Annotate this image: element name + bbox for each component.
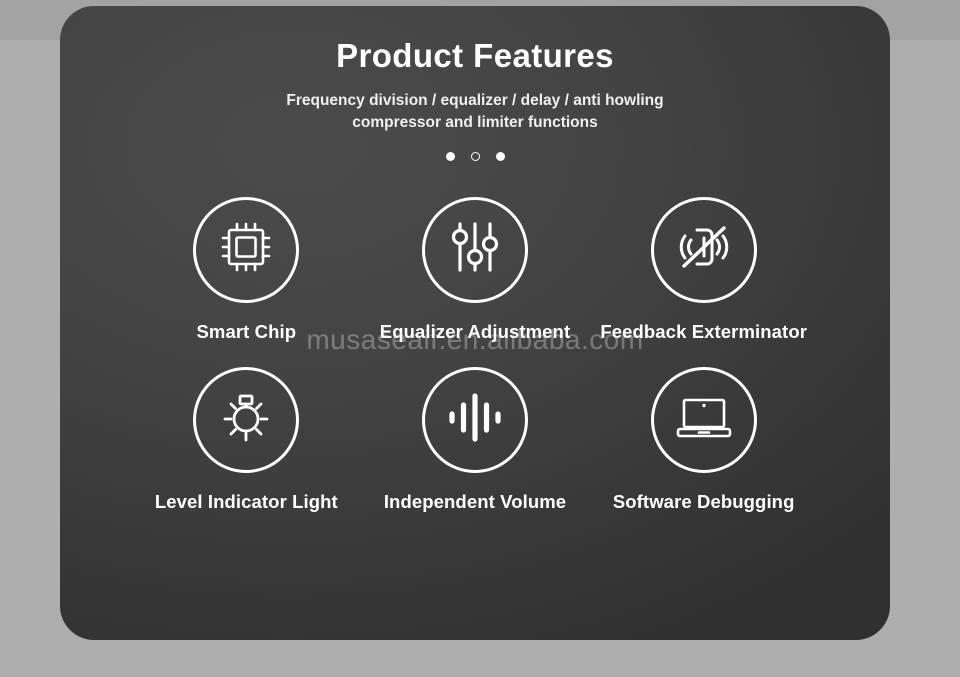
feature-label: Level Indicator Light [155,491,338,513]
laptop-icon [672,385,736,454]
light-bulb-icon [215,386,277,453]
waveform-icon [446,388,504,451]
feature-item-level-indicator-light[interactable]: Level Indicator Light [132,367,361,513]
feature-icon-ring [651,367,757,473]
feature-label: Feedback Exterminator [600,321,807,343]
feature-icon-ring [651,197,757,303]
feature-item-equalizer-adjustment[interactable]: Equalizer Adjustment [361,197,590,343]
page-root: Product Features Frequency division / eq… [0,0,960,677]
feature-item-software-debugging[interactable]: Software Debugging [589,367,818,513]
feature-icon-ring [193,197,299,303]
feature-item-feedback-exterminator[interactable]: Feedback Exterminator [589,197,818,343]
page-subtitle: Frequency division / equalizer / delay /… [255,90,695,135]
feature-item-smart-chip[interactable]: Smart Chip [132,197,361,343]
carousel-dot-1[interactable] [446,152,455,161]
feature-label: Independent Volume [384,491,566,513]
page-title: Product Features [60,36,890,76]
feature-label: Equalizer Adjustment [380,321,570,343]
features-grid: Smart Chip Equ [60,197,890,513]
carousel-dot-2[interactable] [471,152,480,161]
feature-icon-ring [422,367,528,473]
feature-item-independent-volume[interactable]: Independent Volume [361,367,590,513]
chip-icon [215,216,277,283]
equalizer-sliders-icon [445,217,505,282]
carousel-dot-3[interactable] [496,152,505,161]
card-header: Product Features Frequency division / eq… [60,6,890,161]
product-features-card: Product Features Frequency division / eq… [60,6,890,640]
feature-label: Software Debugging [613,491,795,513]
feature-icon-ring [422,197,528,303]
feature-label: Smart Chip [196,321,296,343]
feature-icon-ring [193,367,299,473]
feedback-muted-icon [673,216,735,283]
carousel-dots[interactable] [60,152,890,161]
